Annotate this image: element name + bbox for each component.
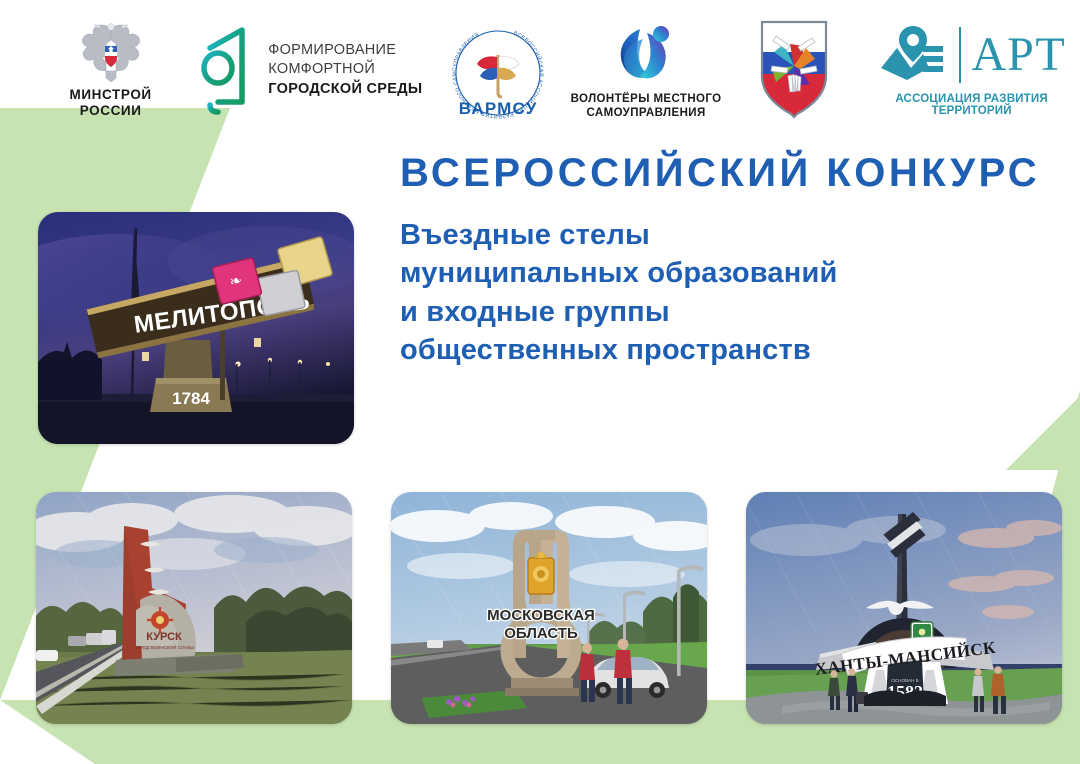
minstroy-caption: МИНСТРОЙ РОССИИ [70,87,152,119]
photo-card-kursk[interactable]: КУРСК ГОРОД ВОИНСКОЙ СЛАВЫ [36,492,352,724]
kursk-caption: КУРСК [146,631,182,643]
logo-art: АРТ АССОЦИАЦИЯ РАЗВИТИЯ ТЕРРИТОРИЙ [863,11,1080,129]
art-caption: АССОЦИАЦИЯ РАЗВИТИЯ ТЕРРИТОРИЙ [863,93,1080,117]
subtitle-line-3: и входные группы [400,293,1060,331]
volunteers-caption: ВОЛОНТЁРЫ МЕСТНОГО САМОУПРАВЛЕНИЯ [571,93,722,120]
kursk-stele-image: КУРСК ГОРОД ВОИНСКОЙ СЛАВЫ [36,492,352,724]
varmsu-emblem-icon: ВСЕРОССИЙСКАЯ АССОЦИАЦИЯ РАЗВИТИЯ МЕСТНО… [446,21,550,125]
melitopol-stele-image: 1784 МЕЛИТОПОЛЬ ❧ [38,212,354,444]
hm-stele-image: ХАНТЫ-МАНСИЙСК ОСНОВАН В 1582 [746,492,1062,724]
map-pin-on-map-icon [877,24,949,86]
logo-coat-of-arms [741,11,847,129]
mosobl-caption-2: ОБЛАСТЬ [504,625,578,642]
art-lockup: АРТ [877,24,1065,86]
kursk-subcaption: ГОРОД ВОИНСКОЙ СЛАВЫ [134,643,194,650]
page-title: ВСЕРОССИЙСКИЙ КОНКУРС [400,152,1060,194]
photo-card-moskovskaya-oblast[interactable]: МОСКОВСКАЯ ОБЛАСТЬ [391,492,707,724]
mosobl-stele-image: МОСКОВСКАЯ ОБЛАСТЬ [391,492,707,724]
title-block: ВСЕРОССИЙСКИЙ КОНКУРС Въездные стелы мун… [400,152,1060,369]
photo-card-khanty-mansiysk[interactable]: ХАНТЫ-МАНСИЙСК ОСНОВАН В 1582 [746,492,1062,724]
art-divider [959,27,961,83]
russian-double-headed-eagle-icon [76,22,146,84]
photo-card-melitopol[interactable]: 1784 МЕЛИТОПОЛЬ ❧ [38,212,354,444]
logo-strip: МИНСТРОЙ РОССИИ ФОРМИРОВАНИЕ КОМФОРТНОЙ … [0,0,1080,140]
logo-varmsu: ВСЕРОССИЙСКАЯ АССОЦИАЦИЯ РАЗВИТИЯ МЕСТНО… [439,11,557,129]
logo-fkgs: ФОРМИРОВАНИЕ КОМФОРТНОЙ ГОРОДСКОЙ СРЕДЫ [191,11,427,129]
art-word: АРТ [971,32,1065,78]
subtitle-line-1: Въездные стелы [400,216,1060,254]
logo-volunteers: ВОЛОНТЁРЫ МЕСТНОГО САМОУПРАВЛЕНИЯ [569,11,723,129]
green-house-monogram-f-icon [196,24,258,116]
subtitle-line-4: общественных пространств [400,331,1060,369]
logo-minstroy: МИНСТРОЙ РОССИИ [48,11,173,129]
subtitle-line-2: муниципальных образований [400,254,1060,292]
mosobl-caption-1: МОСКОВСКАЯ [487,607,595,624]
page-subtitle: Въездные стелы муниципальных образований… [400,216,1060,369]
blue-gradient-person-droplet-icon [607,19,685,89]
tricolor-shield-with-puzzle-hands-icon [748,14,840,126]
melitopol-year: 1784 [172,389,210,408]
fkgs-text: ФОРМИРОВАНИЕ КОМФОРТНОЙ ГОРОДСКОЙ СРЕДЫ [268,41,422,98]
